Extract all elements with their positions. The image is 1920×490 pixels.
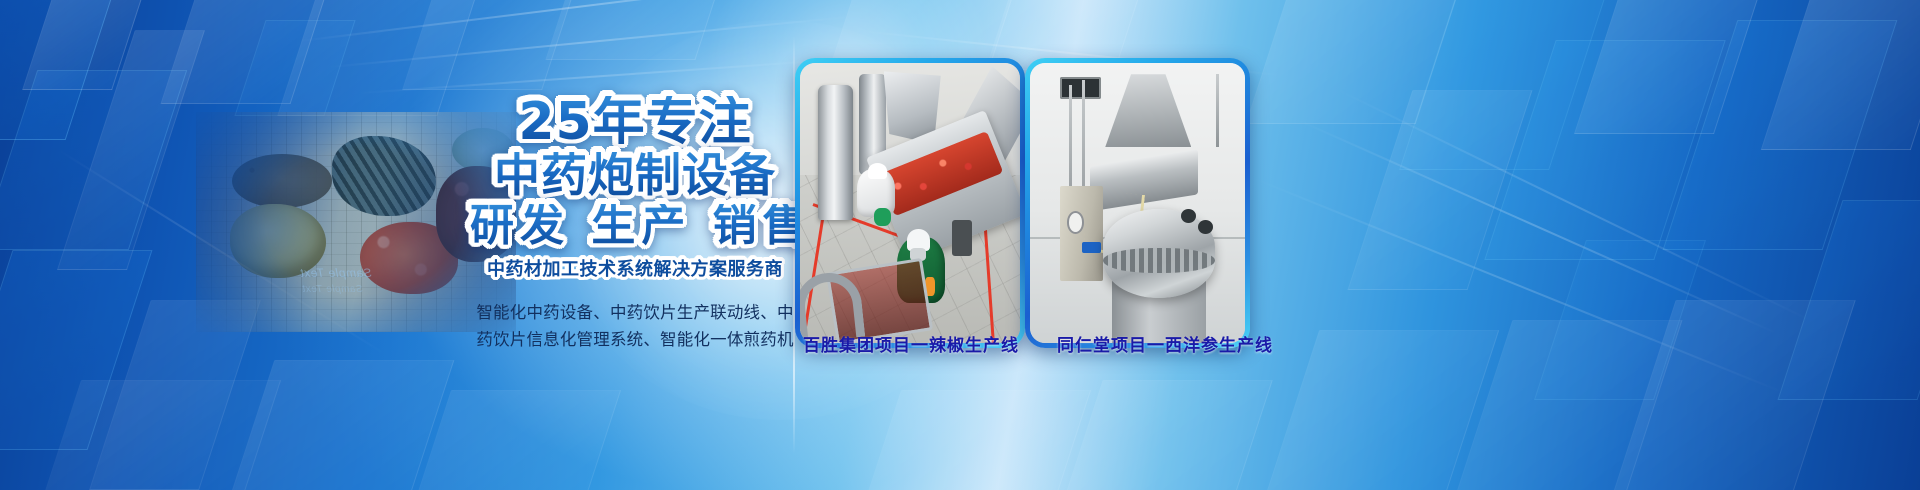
shard bbox=[234, 20, 355, 116]
chili-peppers bbox=[878, 131, 1004, 217]
shard bbox=[1399, 0, 1611, 170]
headline-line-2: 中药炮制设备 bbox=[470, 152, 800, 198]
vessel-clamp-ring bbox=[1103, 248, 1215, 273]
shard bbox=[1663, 20, 1898, 250]
shard bbox=[1484, 40, 1725, 260]
photo-frame-inner bbox=[800, 63, 1020, 343]
shard bbox=[39, 380, 281, 490]
shard bbox=[1604, 300, 1855, 490]
shard bbox=[22, 0, 148, 90]
valve-handwheel bbox=[1198, 220, 1213, 234]
shard bbox=[1534, 240, 1706, 400]
shard bbox=[1574, 0, 1766, 134]
shard bbox=[1448, 320, 1683, 490]
chili-production-line-photo bbox=[800, 63, 1020, 343]
sample-watermark-2: Sample Text bbox=[302, 284, 363, 295]
shard bbox=[0, 0, 114, 140]
valve-handwheel bbox=[1181, 209, 1196, 223]
shard bbox=[226, 360, 455, 490]
ginseng-production-line-photo bbox=[1030, 63, 1245, 343]
blue-valve-handle bbox=[1082, 242, 1101, 253]
control-panel bbox=[1060, 77, 1101, 99]
light-beam bbox=[360, 59, 829, 94]
banner-subtitle: 中药材加工技术系统解决方案服务商 bbox=[470, 255, 800, 281]
shard bbox=[1246, 0, 1465, 124]
shard bbox=[277, 0, 482, 116]
promotional-banner: Sample Text Sample Text 25年专注 中药炮制设备 研发 … bbox=[0, 0, 1920, 490]
light-beam bbox=[300, 0, 856, 42]
blue-tint-overlay-2 bbox=[196, 112, 516, 332]
shard bbox=[402, 0, 578, 90]
description-line-2: 药饮片信息化管理系统、智能化一体煎药机 bbox=[470, 327, 800, 354]
project-photo-card-1 bbox=[795, 58, 1025, 348]
description-line-1: 智能化中药设备、中药饮片生产联动线、中 bbox=[470, 300, 800, 327]
photo-caption-1: 百胜集团项目一辣椒生产线 bbox=[803, 331, 1019, 356]
shard bbox=[859, 390, 1091, 490]
shard bbox=[545, 0, 724, 60]
shard bbox=[0, 70, 187, 250]
headline-line-3: 研发 生产 销售 bbox=[470, 204, 800, 248]
shard bbox=[1348, 90, 1533, 290]
factory-worker bbox=[857, 169, 894, 231]
sample-watermark: Sample Text bbox=[300, 266, 372, 280]
shard bbox=[409, 390, 621, 490]
waste-bin bbox=[952, 220, 972, 256]
banner-description: 智能化中药设备、中药饮片生产联动线、中 药饮片信息化管理系统、智能化一体煎药机 bbox=[470, 300, 800, 353]
extraction-hood bbox=[1105, 74, 1191, 147]
support-post bbox=[1216, 74, 1219, 147]
shard bbox=[1778, 200, 1920, 400]
shard bbox=[1057, 380, 1272, 490]
light-beam bbox=[330, 16, 848, 68]
shard bbox=[0, 250, 152, 450]
photo-caption-2: 同仁堂项目一西洋参生产线 bbox=[1057, 331, 1273, 356]
stainless-column bbox=[818, 85, 853, 219]
light-beam bbox=[1340, 90, 1808, 320]
photo-frame-inner bbox=[1030, 63, 1245, 343]
worker-glove bbox=[874, 208, 890, 226]
pressure-gauge bbox=[1067, 211, 1084, 233]
headline-line-1: 25年专注 bbox=[470, 96, 800, 148]
shard bbox=[57, 30, 205, 270]
light-beam bbox=[1260, 180, 1780, 392]
headline-text-block: 25年专注 中药炮制设备 研发 生产 销售 中药材加工技术系统解决方案服务商 智… bbox=[470, 96, 800, 353]
shard bbox=[161, 0, 330, 104]
light-beam bbox=[1300, 120, 1776, 333]
project-photo-card-2 bbox=[1025, 58, 1250, 348]
worker-cap bbox=[868, 163, 887, 179]
shard bbox=[1261, 330, 1499, 490]
shard bbox=[1761, 0, 1920, 150]
herbal-medicine-photo bbox=[196, 112, 516, 332]
